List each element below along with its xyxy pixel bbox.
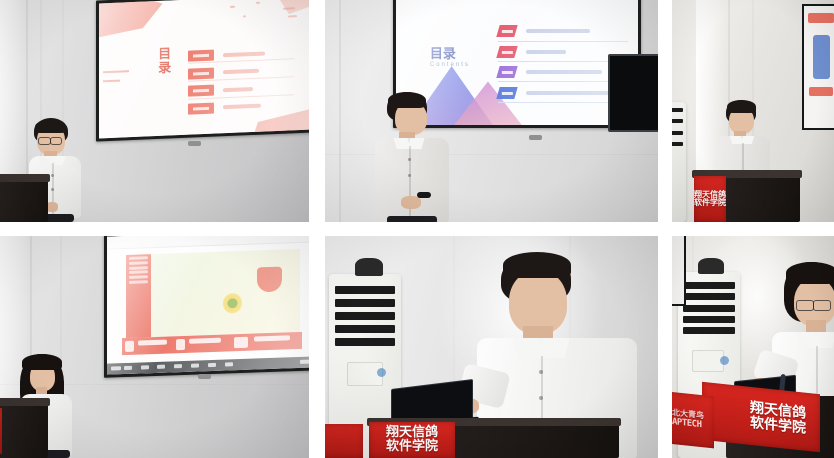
contents-row	[498, 25, 590, 37]
banner-line-2: 软件学院	[386, 439, 438, 454]
podium-top	[0, 174, 50, 182]
item-number-01	[496, 25, 517, 37]
chapter-text	[223, 87, 253, 92]
photo-panel-bottom-left[interactable]: #e8513e	[0, 236, 309, 458]
photo-panel-top-right[interactable]: 翔天信鸽 软件学院	[672, 0, 834, 222]
red-flag-graphic-secondary	[256, 0, 309, 21]
confetti	[256, 2, 260, 4]
promo-cell	[176, 339, 185, 350]
slide-shopping-website	[107, 236, 309, 375]
screen-pull-knob	[198, 374, 211, 379]
trousers	[387, 216, 437, 222]
chapter-text	[223, 69, 259, 75]
ac-vents	[672, 108, 683, 146]
air-conditioner	[672, 102, 686, 222]
glasses	[796, 300, 814, 311]
photo-panel-top-center[interactable]: 目录Contents	[325, 0, 658, 222]
hair-top	[786, 262, 834, 284]
hair-top	[503, 252, 571, 278]
podium-banner: 翔天信鸽 软件学院	[694, 176, 726, 222]
hand	[401, 196, 421, 209]
chapter-chip	[188, 67, 214, 79]
website-hero-banner	[151, 249, 300, 337]
row-divider	[498, 41, 629, 42]
confetti	[288, 15, 297, 17]
podium-banner: #e8513e	[0, 408, 2, 454]
website-header	[107, 236, 309, 250]
slide-contents-red: 目录	[99, 0, 309, 138]
shirt-button	[408, 158, 411, 161]
website-product-image	[223, 293, 242, 314]
item-number-04	[496, 87, 517, 99]
wall-screen	[672, 236, 686, 306]
item-text	[526, 50, 566, 54]
head	[509, 270, 567, 334]
accent-line	[103, 70, 128, 73]
hair-fringe	[22, 354, 62, 370]
screen-pull-knob	[188, 141, 201, 146]
shirt-button	[539, 370, 543, 374]
screen-red-block	[809, 87, 833, 97]
chapter-text	[223, 51, 265, 57]
photo-panel-bottom-right[interactable]: 翔天信鸽 软件学院 北大青鸟 APTECH	[672, 236, 834, 458]
projector-screen-surface: 目录	[99, 0, 309, 138]
chapter-chip	[188, 85, 214, 97]
website-sidebar-menu	[126, 254, 151, 338]
podium	[0, 404, 48, 458]
accent-line	[103, 79, 120, 82]
chapter-text	[223, 104, 261, 110]
podium-top	[0, 398, 50, 406]
slide-heading-cn: 目录	[154, 46, 173, 93]
banner-line-2: 软件学院	[694, 198, 726, 207]
projector-screen-surface	[107, 236, 309, 375]
podium-banner-side-inner: 北大青鸟 APTECH	[672, 408, 704, 430]
podium-banner-left-part	[325, 424, 363, 458]
hair-top	[727, 100, 756, 113]
photo-collage: 目录	[0, 0, 834, 458]
ac-top-cover	[698, 258, 724, 274]
shirt	[375, 138, 449, 222]
ac-brand-logo	[377, 368, 386, 377]
projector-screen: 目录	[96, 0, 309, 142]
wall-screen-surface	[804, 6, 834, 128]
wall-screen	[802, 4, 834, 130]
podium	[0, 178, 48, 222]
confetti	[230, 6, 235, 8]
ac-vents	[683, 282, 735, 334]
projector-screen	[104, 236, 309, 378]
podium-banner-side-text	[338, 436, 343, 446]
confetti	[243, 15, 246, 17]
item-number-02	[496, 46, 517, 58]
ac-brand-logo	[720, 356, 729, 365]
photo-panel-bottom-center[interactable]: 翔天信鸽 软件学院	[325, 236, 658, 458]
screen-figure	[813, 35, 830, 79]
hair-top	[388, 92, 426, 108]
promo-cell	[189, 337, 222, 343]
item-text	[526, 29, 590, 33]
contents-row	[188, 101, 261, 115]
promo-cell	[254, 335, 290, 342]
chapter-chip	[188, 50, 214, 62]
photo-panel-top-left[interactable]: 目录	[0, 0, 309, 222]
wall-seam	[339, 0, 341, 222]
podium-banner-text: 翔天信鸽 软件学院	[694, 191, 726, 208]
podium-banner-side: 北大青鸟 APTECH	[672, 392, 714, 449]
shirt-button	[539, 396, 543, 400]
promo-cell	[125, 341, 134, 352]
ac-vents	[335, 286, 395, 346]
person-presenter	[373, 92, 483, 222]
wristwatch	[417, 192, 431, 198]
tv-monitor	[608, 54, 658, 132]
collar	[539, 338, 570, 358]
item-number-03	[496, 66, 517, 78]
wall-screen-surface	[672, 236, 684, 304]
contents-row	[498, 87, 612, 99]
chapter-chip	[188, 103, 214, 115]
contents-row	[498, 66, 602, 78]
screen-pull-knob	[529, 135, 542, 140]
ac-top-cover	[355, 258, 383, 276]
promo-cell	[234, 337, 248, 348]
glasses	[50, 137, 62, 145]
podium-banner-text: 翔天信鸽 软件学院	[386, 426, 438, 453]
podium-banner-text: 翔天信鸽 软件学院	[750, 401, 806, 436]
shirt-button	[51, 188, 54, 191]
glasses	[813, 300, 831, 311]
shirt-button	[51, 174, 54, 177]
podium-banner: 翔天信鸽 软件学院	[702, 382, 820, 452]
podium-banner: 翔天信鸽 软件学院	[369, 422, 455, 458]
contents-row	[498, 46, 566, 58]
item-text	[526, 91, 612, 95]
item-text	[526, 70, 602, 74]
screen-red-banner	[808, 13, 833, 23]
slide-heading: 目录Contents	[430, 43, 470, 68]
hair-fringe	[35, 120, 66, 133]
shirt-button	[408, 174, 411, 177]
promo-cell	[138, 339, 167, 345]
website-promo-badge	[257, 266, 282, 292]
